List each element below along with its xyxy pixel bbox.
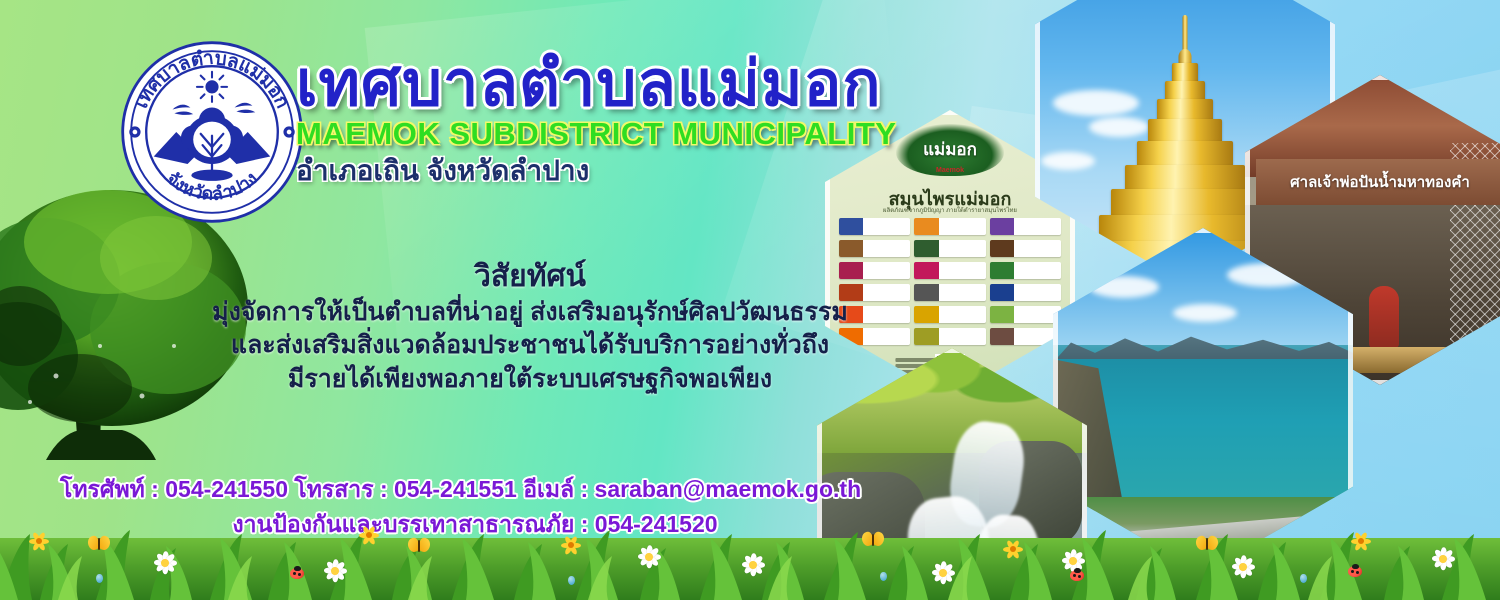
grass-flower-border: [0, 508, 1500, 600]
butterfly-icon: [408, 538, 430, 554]
dewdrop-icon: [1300, 574, 1307, 583]
yellow-flower-icon: [28, 530, 50, 552]
dewdrop-icon: [568, 576, 575, 585]
daisy-flower-icon: [1430, 546, 1456, 572]
ladybug-icon: [290, 568, 304, 579]
hexagon-photo-collage: แม่มอก Maemok สมุนไพรแม่มอก ผลิตภัณฑ์จาก…: [795, 0, 1500, 540]
butterfly-icon: [88, 536, 110, 552]
daisy-flower-icon: [322, 558, 348, 584]
page-title-thai: เทศบาลตำบลแม่มอก: [296, 52, 896, 116]
yellow-flower-icon: [1350, 530, 1372, 552]
dewdrop-icon: [96, 574, 103, 583]
vision-statement: วิสัยทัศน์ มุ่งจัดการให้เป็นตำบลที่น่าอย…: [170, 258, 890, 397]
daisy-flower-icon: [1230, 554, 1256, 580]
page-subtitle-district: อำเภอเถิน จังหวัดลำปาง: [296, 156, 896, 187]
vision-line-1: มุ่งจัดการให้เป็นตำบลที่น่าอยู่ ส่งเสริม…: [170, 296, 890, 330]
dewdrop-icon: [880, 572, 887, 581]
ladybug-icon: [1070, 570, 1084, 581]
daisy-flower-icon: [152, 550, 178, 576]
butterfly-icon: [862, 532, 884, 548]
vision-line-3: มีรายได้เพียงพอภายใต้ระบบเศรษฐกิจพอเพียง: [170, 363, 890, 397]
butterfly-icon: [1196, 536, 1218, 552]
municipality-banner: เทศบาลตำบลแม่มอก จังหวัดลำปาง: [0, 0, 1500, 600]
page-title-english: MAEMOK SUBDISTRICT MUNICIPALITY: [296, 118, 896, 151]
yellow-flower-icon: [358, 524, 380, 546]
municipality-seal-logo: เทศบาลตำบลแม่มอก จังหวัดลำปาง: [118, 38, 306, 226]
daisy-flower-icon: [930, 560, 956, 586]
daisy-flower-icon: [740, 552, 766, 578]
title-block: เทศบาลตำบลแม่มอก MAEMOK SUBDISTRICT MUNI…: [296, 52, 896, 187]
yellow-flower-icon: [560, 534, 582, 556]
yellow-flower-icon: [1002, 538, 1024, 560]
daisy-flower-icon: [636, 544, 662, 570]
vision-heading: วิสัยทัศน์: [170, 258, 890, 296]
contact-line-phone-fax-email[interactable]: โทรศัพท์ : 054-241550 โทรสาร : 054-24155…: [60, 472, 860, 507]
ladybug-icon: [1348, 566, 1362, 577]
vision-line-2: และส่งเสริมสิ่งแวดล้อมประชาชนได้รับบริกา…: [170, 329, 890, 363]
